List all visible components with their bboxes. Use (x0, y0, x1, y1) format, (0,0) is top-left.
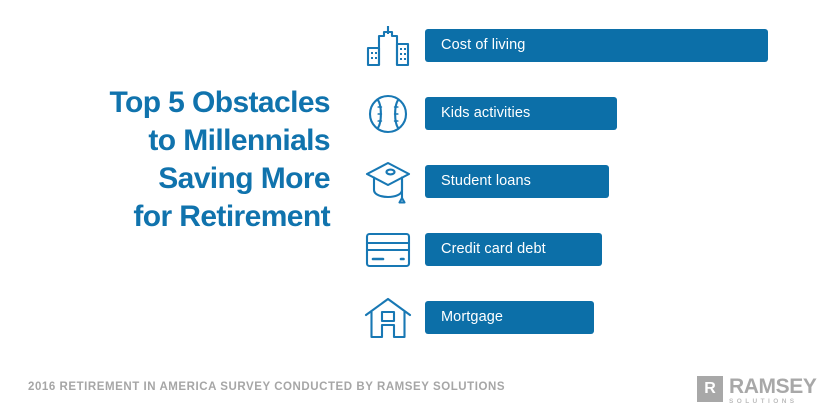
page-title-line-1: Top 5 Obstacles (30, 84, 330, 122)
chart-row-student-loans: Student loans (360, 156, 820, 224)
page-title: Top 5 Obstacles to Millennials Saving Mo… (30, 84, 330, 236)
house-icon (362, 292, 414, 344)
chart-row-mortgage: Mortgage (360, 292, 820, 360)
bar-label-credit-card-debt: Credit card debt (425, 242, 546, 257)
bar-label-mortgage: Mortgage (425, 310, 503, 325)
source-note: 2016 RETIREMENT IN AMERICA SURVEY CONDUC… (28, 381, 505, 393)
page-title-line-3: Saving More (30, 160, 330, 198)
chart-row-cost-of-living: Cost of living (360, 20, 820, 88)
bar-label-kids-activities: Kids activities (425, 106, 530, 121)
ramsey-logo-text: RAMSEY SOLUTIONS (729, 376, 816, 405)
city-buildings-icon (362, 20, 414, 72)
baseball-icon (362, 88, 414, 140)
ramsey-subtext: SOLUTIONS (729, 398, 816, 405)
obstacles-bar-chart: Cost of living Kids activities (360, 20, 820, 360)
graduation-cap-icon (362, 156, 414, 208)
bar-student-loans: Student loans (425, 165, 609, 198)
chart-row-kids-activities: Kids activities (360, 88, 820, 156)
bar-cost-of-living: Cost of living (425, 29, 768, 62)
credit-card-icon (362, 224, 414, 276)
bar-label-student-loans: Student loans (425, 174, 531, 189)
page-title-line-4: for Retirement (30, 198, 330, 236)
bar-label-cost-of-living: Cost of living (425, 38, 525, 53)
page-title-line-2: to Millennials (30, 122, 330, 160)
ramsey-solutions-logo: R RAMSEY SOLUTIONS (697, 376, 816, 405)
bar-credit-card-debt: Credit card debt (425, 233, 602, 266)
chart-row-credit-card-debt: Credit card debt (360, 224, 820, 292)
bar-kids-activities: Kids activities (425, 97, 617, 130)
bar-mortgage: Mortgage (425, 301, 594, 334)
ramsey-wordmark: RAMSEY (729, 377, 816, 397)
ramsey-logo-mark: R (697, 376, 723, 402)
ramsey-logo-mark-letter: R (704, 381, 716, 397)
